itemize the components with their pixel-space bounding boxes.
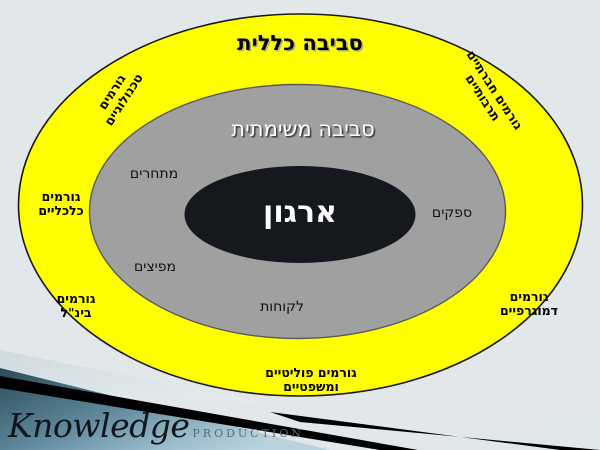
- concentric-ellipse-diagram: [0, 0, 600, 450]
- diagram-canvas: סביבה כללית גורמים טכנולוגיים גורמים חבר…: [0, 0, 600, 450]
- ring-organization: [185, 167, 415, 263]
